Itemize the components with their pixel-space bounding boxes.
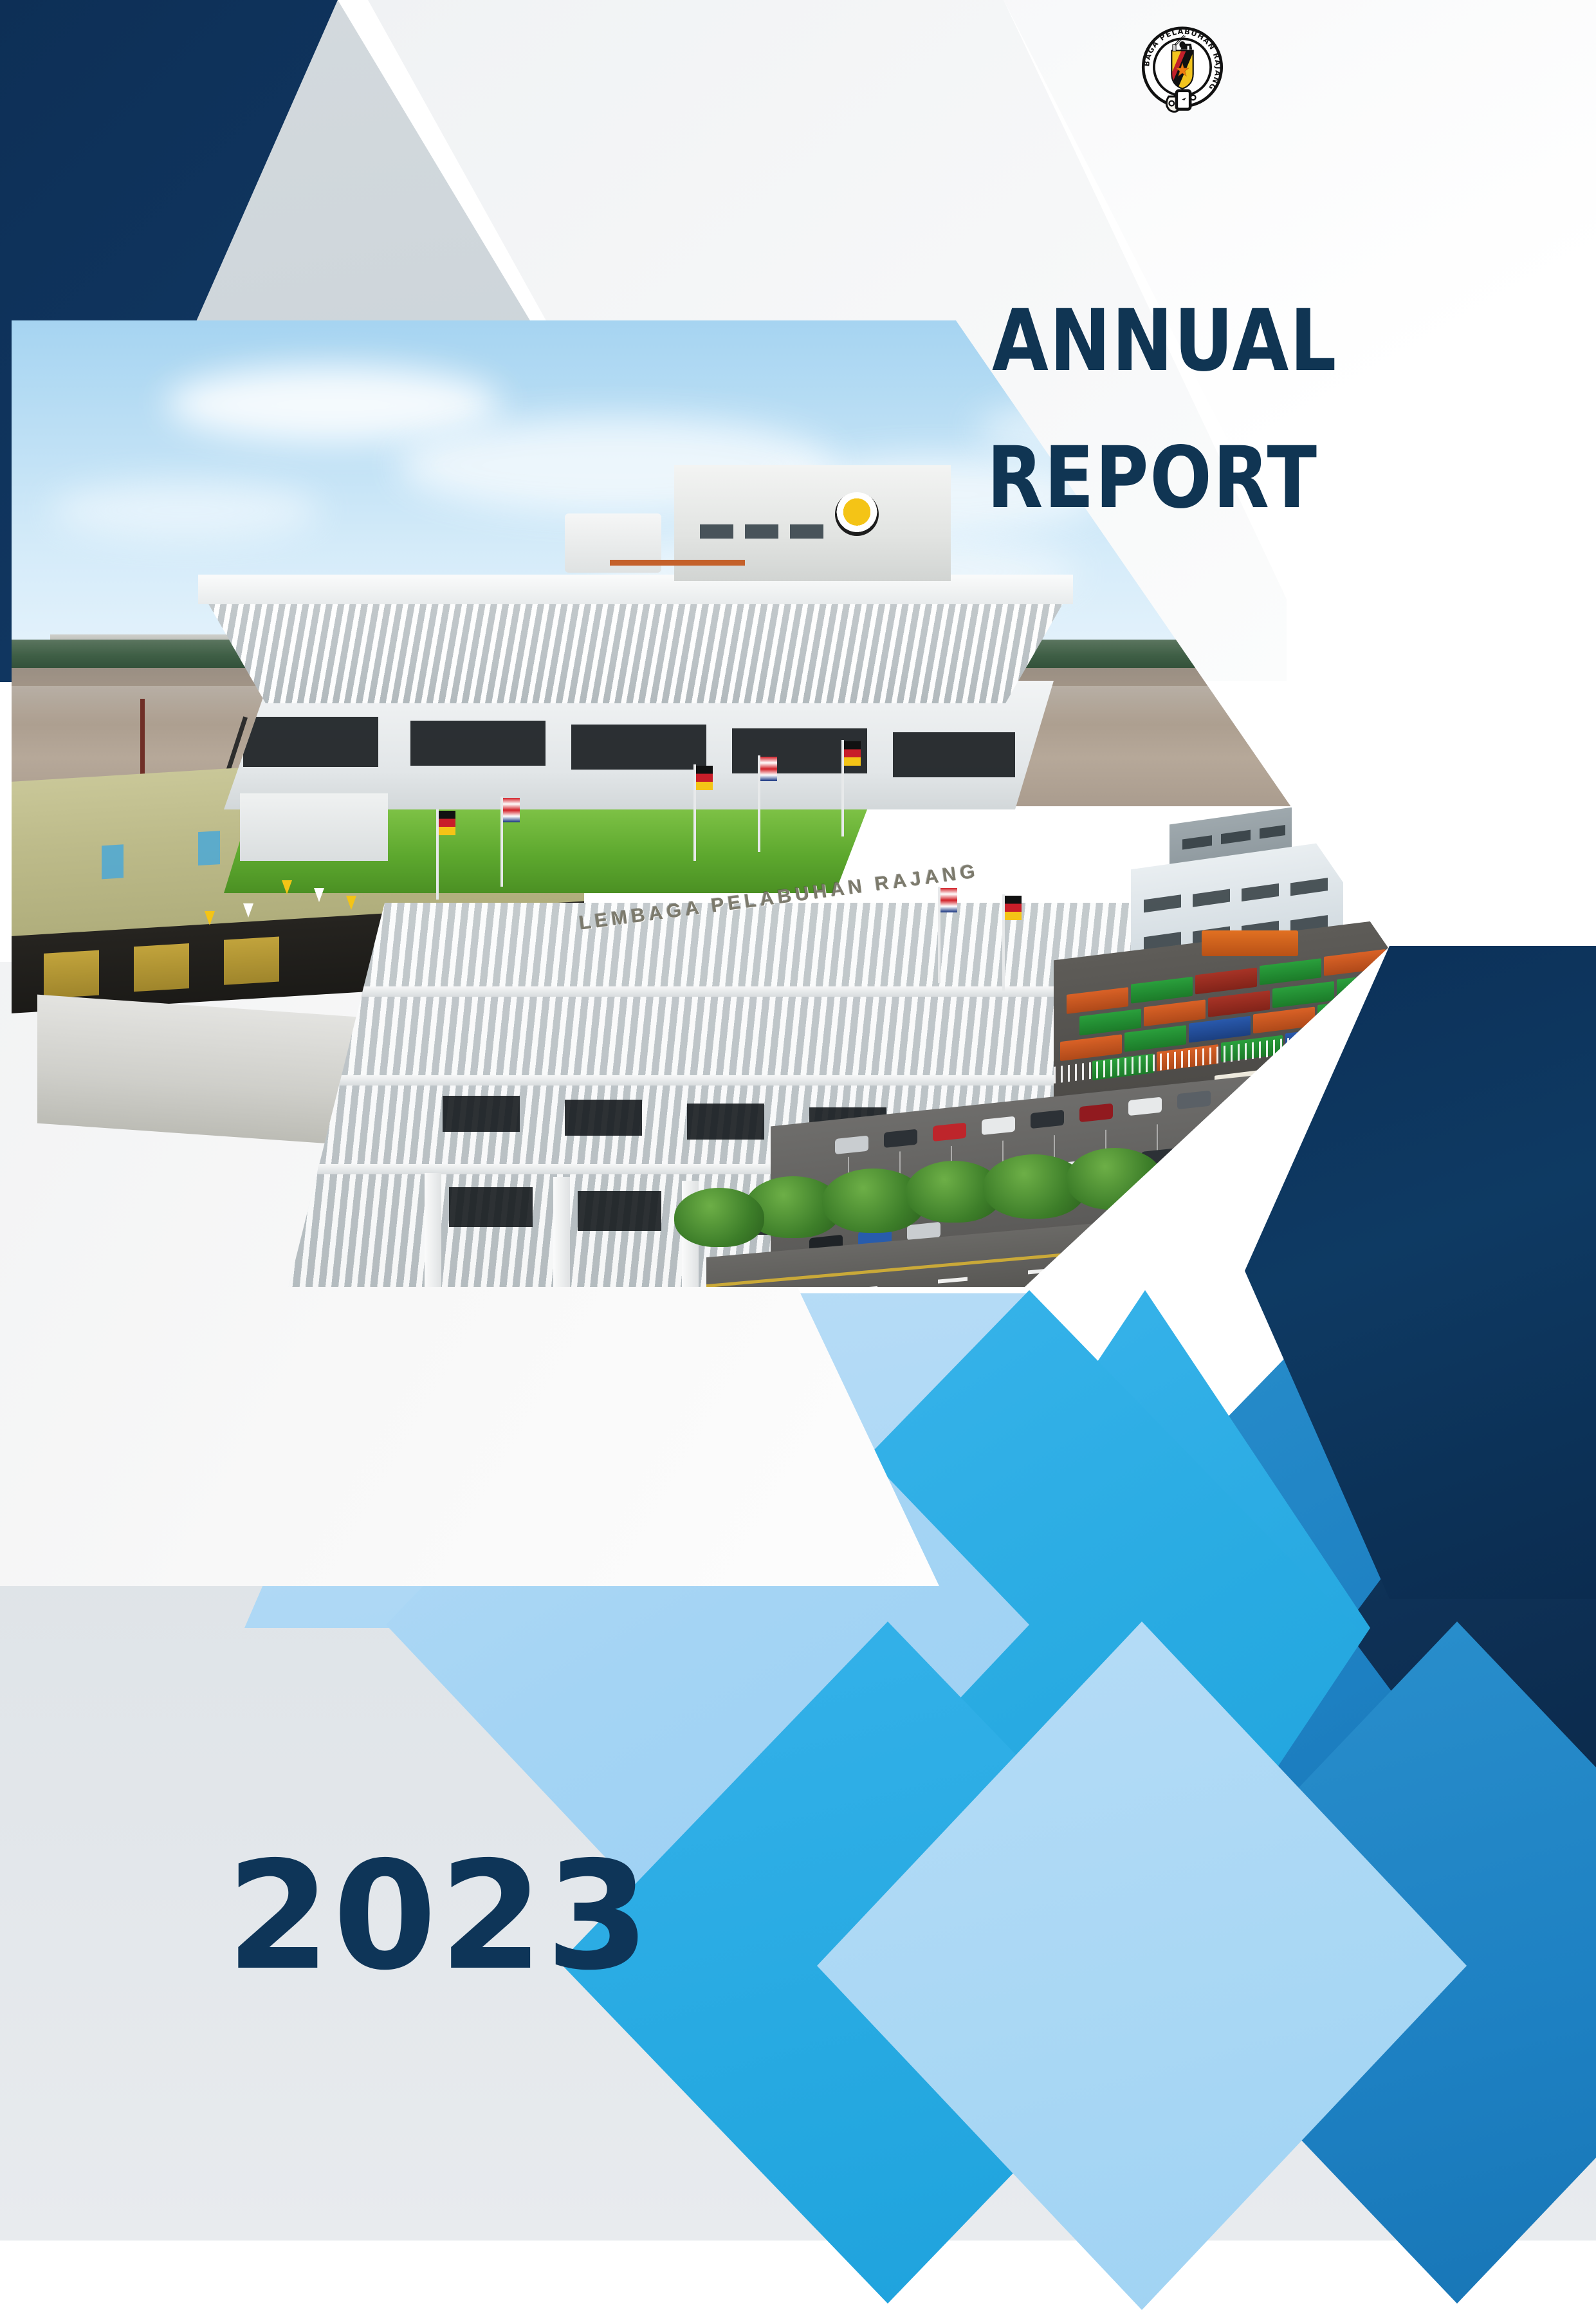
photo-lorry-container: [1202, 930, 1298, 956]
report-year: 2023: [226, 1842, 652, 1991]
page-title: ANNUAL REPORT: [978, 302, 1428, 518]
annual-report-cover: LEMBAGA PELABUHAN RAJANG: [0, 0, 1596, 2241]
photo-building-cantilever: [205, 597, 1067, 703]
photo-roof-hut: [240, 793, 388, 861]
title-line-annual: ANNUAL: [992, 302, 1367, 380]
title-line-report: REPORT: [987, 439, 1366, 517]
photo-tank-pipe: [610, 560, 745, 566]
photo-building-crest: [835, 492, 879, 536]
photo-cloud: [166, 365, 500, 443]
photo-cloud: [50, 481, 320, 539]
organization-logo: LEMBAGA PELABUHAN RAJANG: [1133, 23, 1231, 121]
